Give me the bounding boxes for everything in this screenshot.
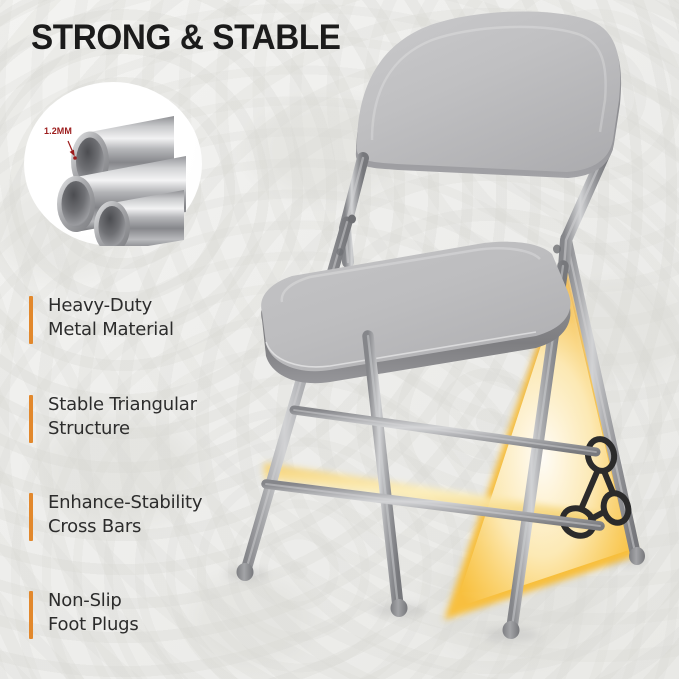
feature-item-heavy-duty-metal-material: Heavy-Duty Metal Material	[29, 294, 174, 344]
chair-back-upright-left	[345, 158, 363, 262]
thickness-label: 1.2MM	[44, 126, 72, 136]
foot-plug	[237, 563, 254, 581]
foot-plug	[629, 547, 645, 565]
chair-front-leg-left	[368, 336, 408, 617]
page-title: STRONG & STABLE	[31, 18, 341, 58]
accent-bar	[29, 296, 33, 344]
chair-back-cushion	[356, 11, 621, 178]
accent-bar	[29, 493, 33, 541]
feature-label: Stable Triangular Structure	[48, 393, 197, 441]
foot-plug	[503, 621, 520, 639]
steel-tube-cutaway-icon	[24, 82, 202, 246]
chair-seat-cushion	[261, 242, 570, 384]
accent-bar	[29, 395, 33, 443]
feature-label: Enhance-Stability Cross Bars	[48, 491, 202, 539]
accent-bar	[29, 591, 33, 639]
product-feature-image: STRONG & STABLE	[0, 0, 679, 679]
feature-item-enhance-stability-cross-bars: Enhance-Stability Cross Bars	[29, 491, 202, 541]
feature-item-stable-triangular-structure: Stable Triangular Structure	[29, 393, 197, 443]
foot-plug	[391, 599, 408, 617]
feature-item-non-slip-foot-plugs: Non-Slip Foot Plugs	[29, 589, 139, 639]
feature-label: Heavy-Duty Metal Material	[48, 294, 174, 342]
steel-tube-inset: 1.2MM	[24, 82, 202, 246]
feature-label: Non-Slip Foot Plugs	[48, 589, 139, 637]
